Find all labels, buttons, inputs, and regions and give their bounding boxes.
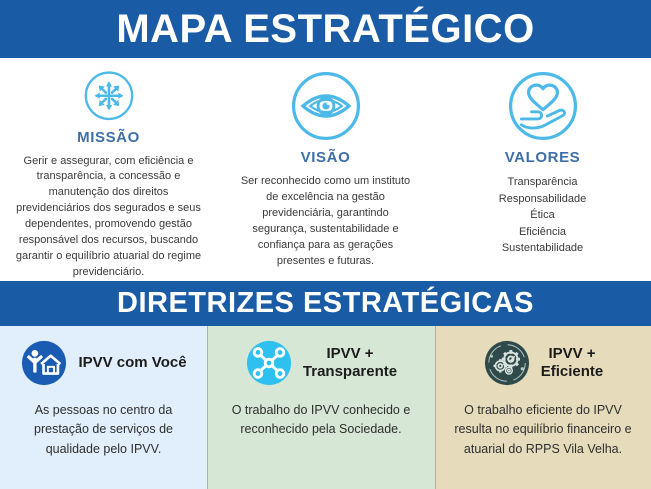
guidelines-section: IPVV com Você As pessoas no centro da pr… (0, 326, 651, 489)
pillar-vision-body: Ser reconhecido como um instituto de exc… (238, 174, 414, 270)
guideline-body-eficiente: O trabalho eficiente do IPVV resulta no … (444, 401, 642, 459)
guideline-header-transparente: IPVV + Transparente (207, 337, 435, 389)
eye-icon (290, 70, 362, 142)
guideline-title-transparente: IPVV + Transparente (303, 345, 397, 382)
pillar-values-heading: VALORES (505, 149, 581, 166)
pillar-mission-heading: MISSÃO (77, 129, 140, 146)
pillar-mission: MISSÃO Gerir e assegurar, com eficiência… (0, 58, 217, 281)
pillar-vision: VISÃO Ser reconhecido como um instituto … (217, 58, 434, 281)
guideline-card-ipvv-com-voce: IPVV com Você As pessoas no centro da pr… (0, 326, 207, 489)
guideline-header-eficiente: IPVV + Eficiente (435, 337, 651, 389)
guideline-body-voce: As pessoas no centro da prestação de ser… (11, 401, 197, 459)
sub-banner: DIRETRIZES ESTRATÉGICAS (0, 281, 651, 326)
main-banner: MAPA ESTRATÉGICO (0, 0, 651, 58)
card-divider-left (207, 326, 208, 489)
guideline-header-voce: IPVV com Você (0, 337, 207, 389)
main-banner-title: MAPA ESTRATÉGICO (116, 9, 534, 49)
arrows-expand-icon (73, 70, 145, 122)
guideline-body-transparente: O trabalho do IPVV conhecido e reconheci… (226, 401, 416, 440)
pillars-section: MISSÃO Gerir e assegurar, com eficiência… (0, 58, 651, 281)
guideline-card-ipvv-eficiente: IPVV + Eficiente O trabalho eficiente do… (435, 326, 651, 489)
network-nodes-icon (245, 339, 293, 387)
guideline-card-ipvv-transparente: IPVV + Transparente O trabalho do IPVV c… (207, 326, 435, 489)
pillar-values: VALORES Transparência Responsabilidade É… (434, 58, 651, 281)
pillar-mission-body: Gerir e assegurar, com eficiência e tran… (11, 154, 207, 282)
guideline-title-eficiente: IPVV + Eficiente (541, 345, 604, 382)
pillar-vision-heading: VISÃO (301, 149, 351, 166)
card-divider-right (435, 326, 436, 489)
person-house-icon (20, 339, 68, 387)
guideline-title-voce: IPVV com Você (78, 354, 186, 372)
infographic-page: MAPA ESTRATÉGICO (0, 0, 651, 489)
sub-banner-title: DIRETRIZES ESTRATÉGICAS (117, 289, 534, 318)
pillar-values-body: Transparência Responsabilidade Ética Efi… (455, 174, 631, 257)
heart-in-hand-icon (507, 70, 579, 142)
gears-check-icon (483, 339, 531, 387)
